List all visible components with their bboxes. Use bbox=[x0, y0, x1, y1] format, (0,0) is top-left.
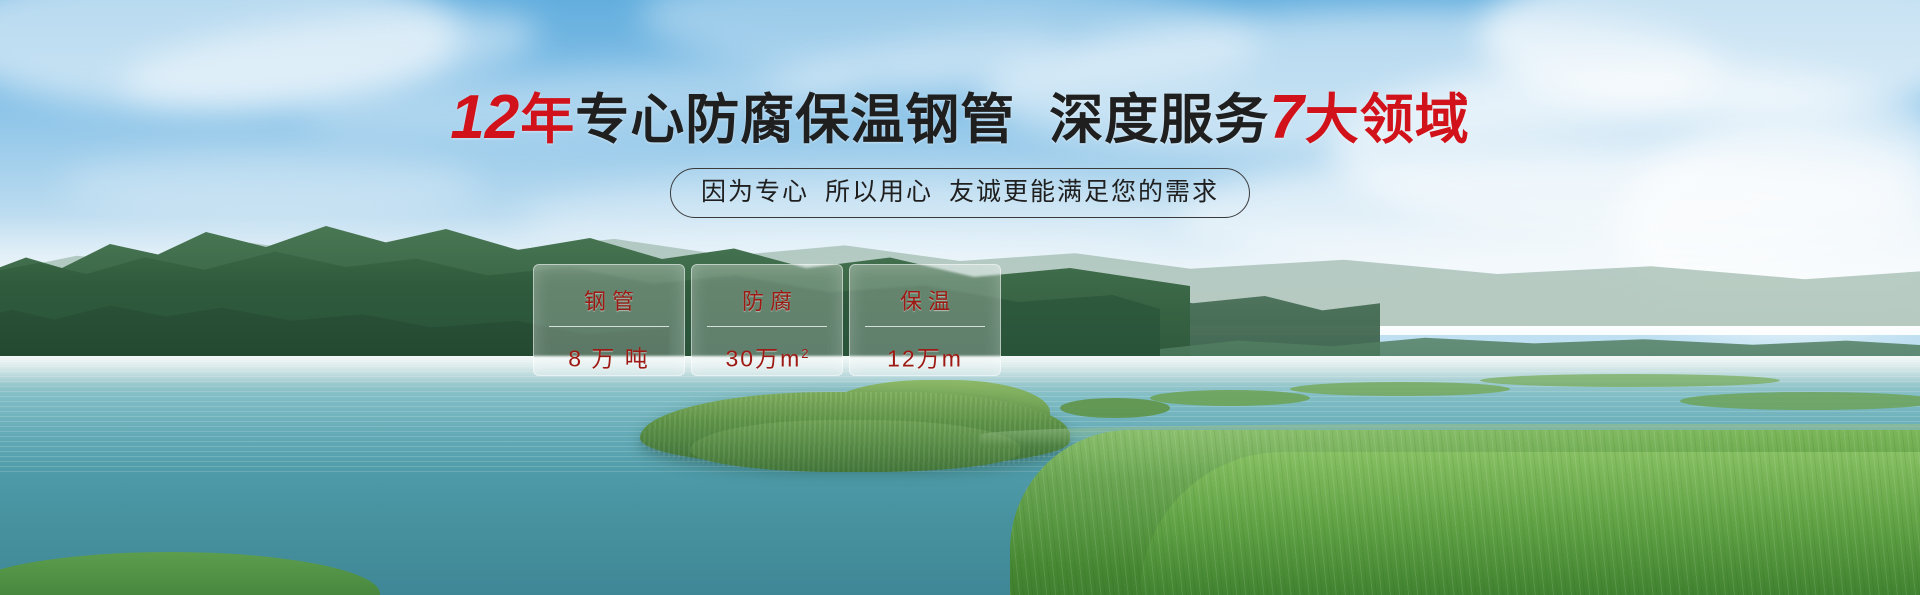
stat-card-value: 8 万 吨 bbox=[568, 340, 650, 373]
stat-card-group: 钢管 8 万 吨 防腐 30万m2 保温 12万m bbox=[533, 264, 1001, 376]
marsh-islet bbox=[1290, 382, 1510, 396]
stat-card-insulation: 保温 12万m bbox=[849, 264, 1001, 376]
stat-card-value-main: 30万m bbox=[726, 346, 802, 372]
stat-card-steel-pipe: 钢管 8 万 吨 bbox=[533, 264, 685, 376]
subtitle-segment-3: 友诚更能满足您的需求 bbox=[949, 178, 1219, 206]
subtitle-segment-2: 所以用心 bbox=[825, 178, 933, 206]
marsh-islet bbox=[1480, 374, 1780, 387]
stat-card-title: 钢管 bbox=[578, 289, 640, 315]
stat-card-value-sup: 2 bbox=[801, 346, 808, 361]
marsh-islet bbox=[1060, 398, 1170, 418]
banner-subtitle-pill: 因为专心所以用心友诚更能满足您的需求 bbox=[670, 168, 1250, 218]
headline-part-a: 专心防腐保温钢管 bbox=[575, 90, 1015, 150]
headline-fields-number: 7 bbox=[1269, 83, 1304, 152]
stat-card-value: 30万m2 bbox=[726, 340, 809, 373]
stat-card-anticorrosion: 防腐 30万m2 bbox=[691, 264, 843, 376]
stat-card-divider bbox=[549, 326, 669, 327]
stat-card-value: 12万m bbox=[887, 340, 963, 373]
stat-card-divider bbox=[707, 326, 827, 327]
headline-years-unit: 年 bbox=[520, 90, 575, 150]
headline-part-b: 深度服务 bbox=[1049, 90, 1269, 150]
hero-banner: 12年专心防腐保温钢管深度服务7大领域 因为专心所以用心友诚更能满足您的需求 钢… bbox=[0, 0, 1920, 595]
stat-card-title: 保温 bbox=[894, 289, 956, 315]
headline-years-number: 12 bbox=[450, 83, 520, 152]
banner-headline: 12年专心防腐保温钢管深度服务7大领域 bbox=[0, 88, 1920, 150]
stat-card-value-main: 8 万 吨 bbox=[568, 346, 650, 372]
marsh-islet bbox=[1150, 390, 1310, 406]
grass-blade-texture bbox=[1010, 430, 1920, 595]
stat-card-divider bbox=[865, 326, 985, 327]
headline-fields-unit-char: 大领域 bbox=[1305, 90, 1470, 150]
stat-card-title: 防腐 bbox=[736, 289, 798, 315]
cloud-wisp-icon bbox=[60, 150, 480, 220]
subtitle-segment-1: 因为专心 bbox=[701, 178, 809, 206]
stat-card-value-main: 12万m bbox=[887, 346, 963, 372]
